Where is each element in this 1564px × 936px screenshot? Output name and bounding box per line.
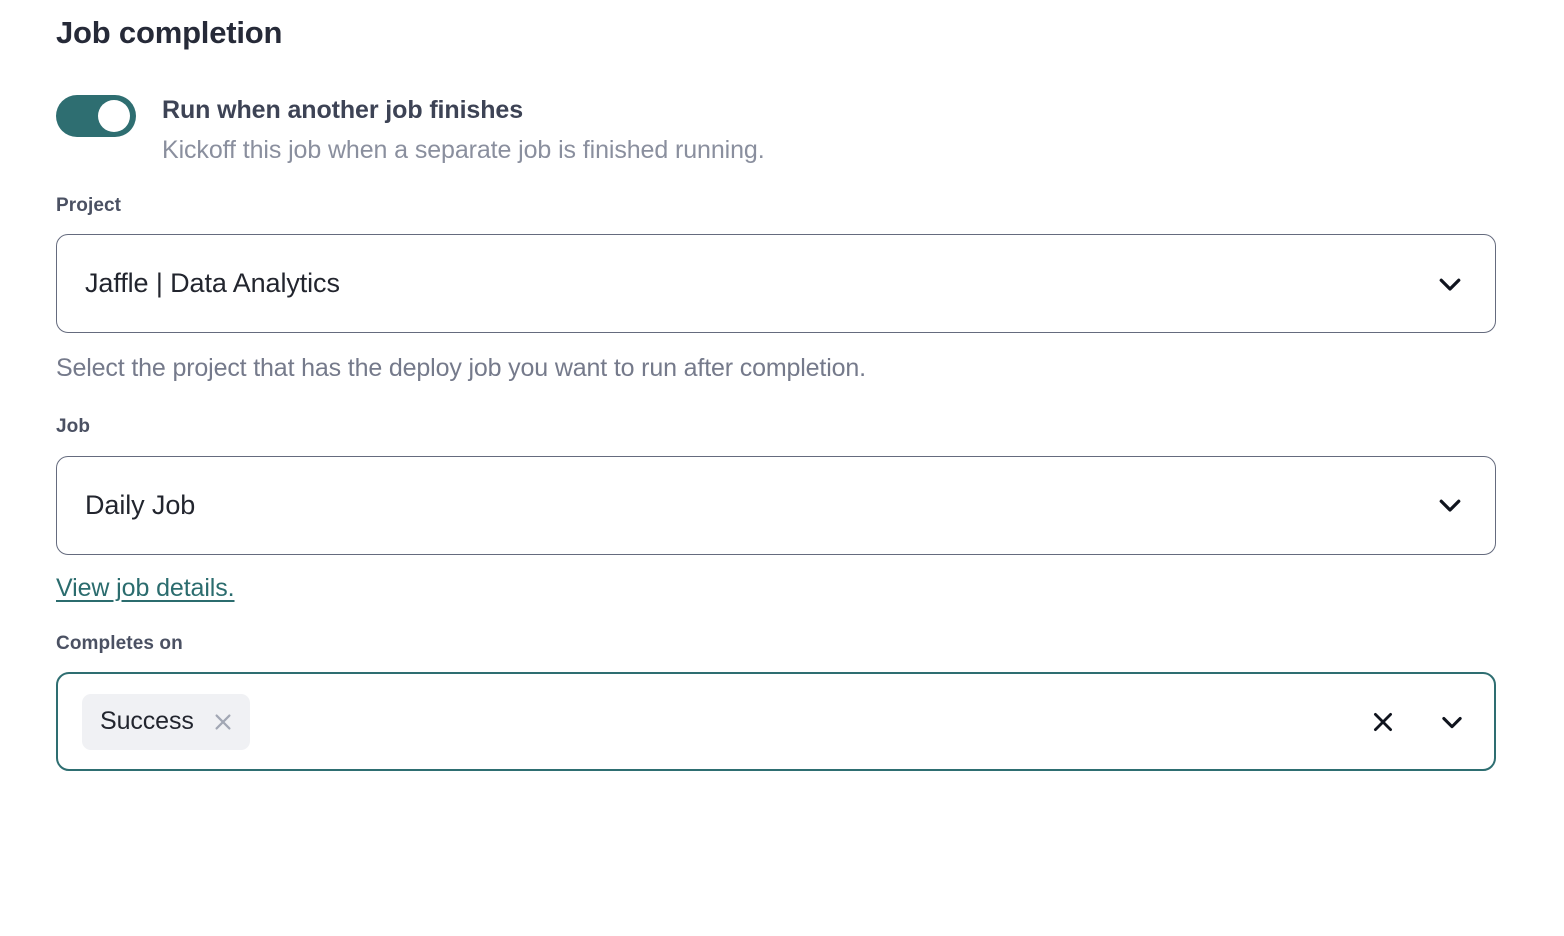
run-when-another-job-finishes-row: Run when another job finishes Kickoff th… bbox=[56, 94, 1496, 167]
job-label: Job bbox=[56, 416, 1496, 439]
project-label: Project bbox=[56, 195, 1496, 218]
chevron-down-icon[interactable] bbox=[1438, 708, 1466, 736]
view-job-details-link[interactable]: View job details. bbox=[56, 574, 235, 603]
job-completion-panel: Job completion Run when another job fini… bbox=[0, 0, 1564, 936]
toggle-text-block: Run when another job finishes Kickoff th… bbox=[162, 94, 765, 167]
multiselect-actions bbox=[1369, 708, 1466, 736]
job-field-group: Job Daily Job View job details. bbox=[56, 416, 1496, 603]
project-select-value: Jaffle | Data Analytics bbox=[85, 268, 340, 299]
job-select[interactable]: Daily Job bbox=[56, 456, 1496, 555]
clear-icon[interactable] bbox=[1369, 708, 1397, 736]
project-select[interactable]: Jaffle | Data Analytics bbox=[56, 234, 1496, 333]
project-helper-text: Select the project that has the deploy j… bbox=[56, 353, 1496, 384]
project-field-group: Project Jaffle | Data Analytics Select t… bbox=[56, 195, 1496, 385]
run-when-another-job-finishes-toggle[interactable] bbox=[56, 95, 136, 137]
toggle-knob bbox=[98, 100, 130, 132]
completes-on-label: Completes on bbox=[56, 633, 1496, 656]
completes-on-field-group: Completes on Success bbox=[56, 633, 1496, 772]
toggle-label: Run when another job finishes bbox=[162, 95, 765, 126]
chevron-down-icon[interactable] bbox=[1435, 490, 1465, 520]
selected-chip: Success bbox=[82, 694, 250, 750]
completes-on-multiselect[interactable]: Success bbox=[56, 672, 1496, 771]
toggle-description: Kickoff this job when a separate job is … bbox=[162, 135, 765, 166]
chip-label: Success bbox=[100, 707, 194, 736]
page-title: Job completion bbox=[56, 0, 1496, 51]
job-select-value: Daily Job bbox=[85, 490, 195, 521]
chevron-down-icon[interactable] bbox=[1435, 269, 1465, 299]
close-icon[interactable] bbox=[212, 711, 234, 733]
